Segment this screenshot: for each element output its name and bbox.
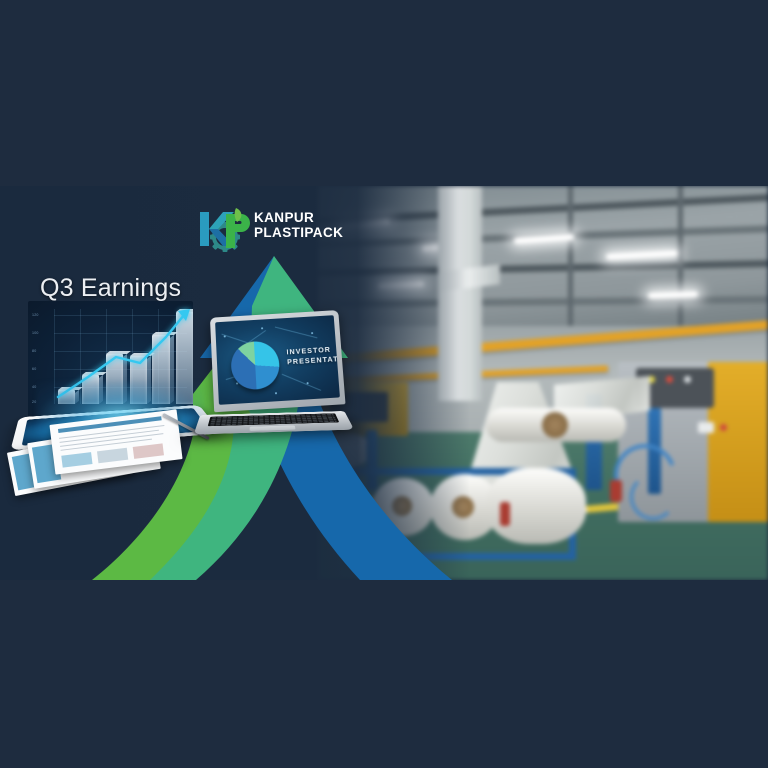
laptop-lid: INVESTOR PRESENTATION	[210, 310, 346, 412]
laptop-keyboard	[208, 413, 340, 426]
laptop-device[interactable]: INVESTOR PRESENTATION	[192, 313, 352, 463]
brand-name-line1: KANPUR	[254, 210, 343, 225]
document-chart-block	[61, 452, 92, 468]
laptop-trackpad	[250, 425, 296, 431]
brand-logo[interactable]: KANPUR PLASTIPACK	[196, 206, 356, 254]
brand-name-line2: PLASTIPACK	[254, 225, 343, 240]
page-title: Q3 Earnings	[40, 274, 181, 303]
earnings-banner: Q3 Earnings	[0, 186, 768, 580]
pie-slices	[230, 340, 281, 391]
document-chart-block	[133, 443, 164, 459]
investor-presentation-pie-chart	[230, 340, 281, 391]
banner-canvas: Q3 Earnings	[0, 0, 768, 768]
device-cluster: 120 100 80 60 40 20	[10, 301, 370, 516]
laptop-screen-title: INVESTOR PRESENTATION	[286, 343, 340, 367]
kp-logo-mark	[196, 206, 252, 254]
brand-name: KANPUR PLASTIPACK	[254, 210, 343, 240]
document-chart-block	[97, 448, 128, 464]
laptop-base	[194, 411, 354, 435]
laptop-screen: INVESTOR PRESENTATION	[215, 315, 340, 405]
